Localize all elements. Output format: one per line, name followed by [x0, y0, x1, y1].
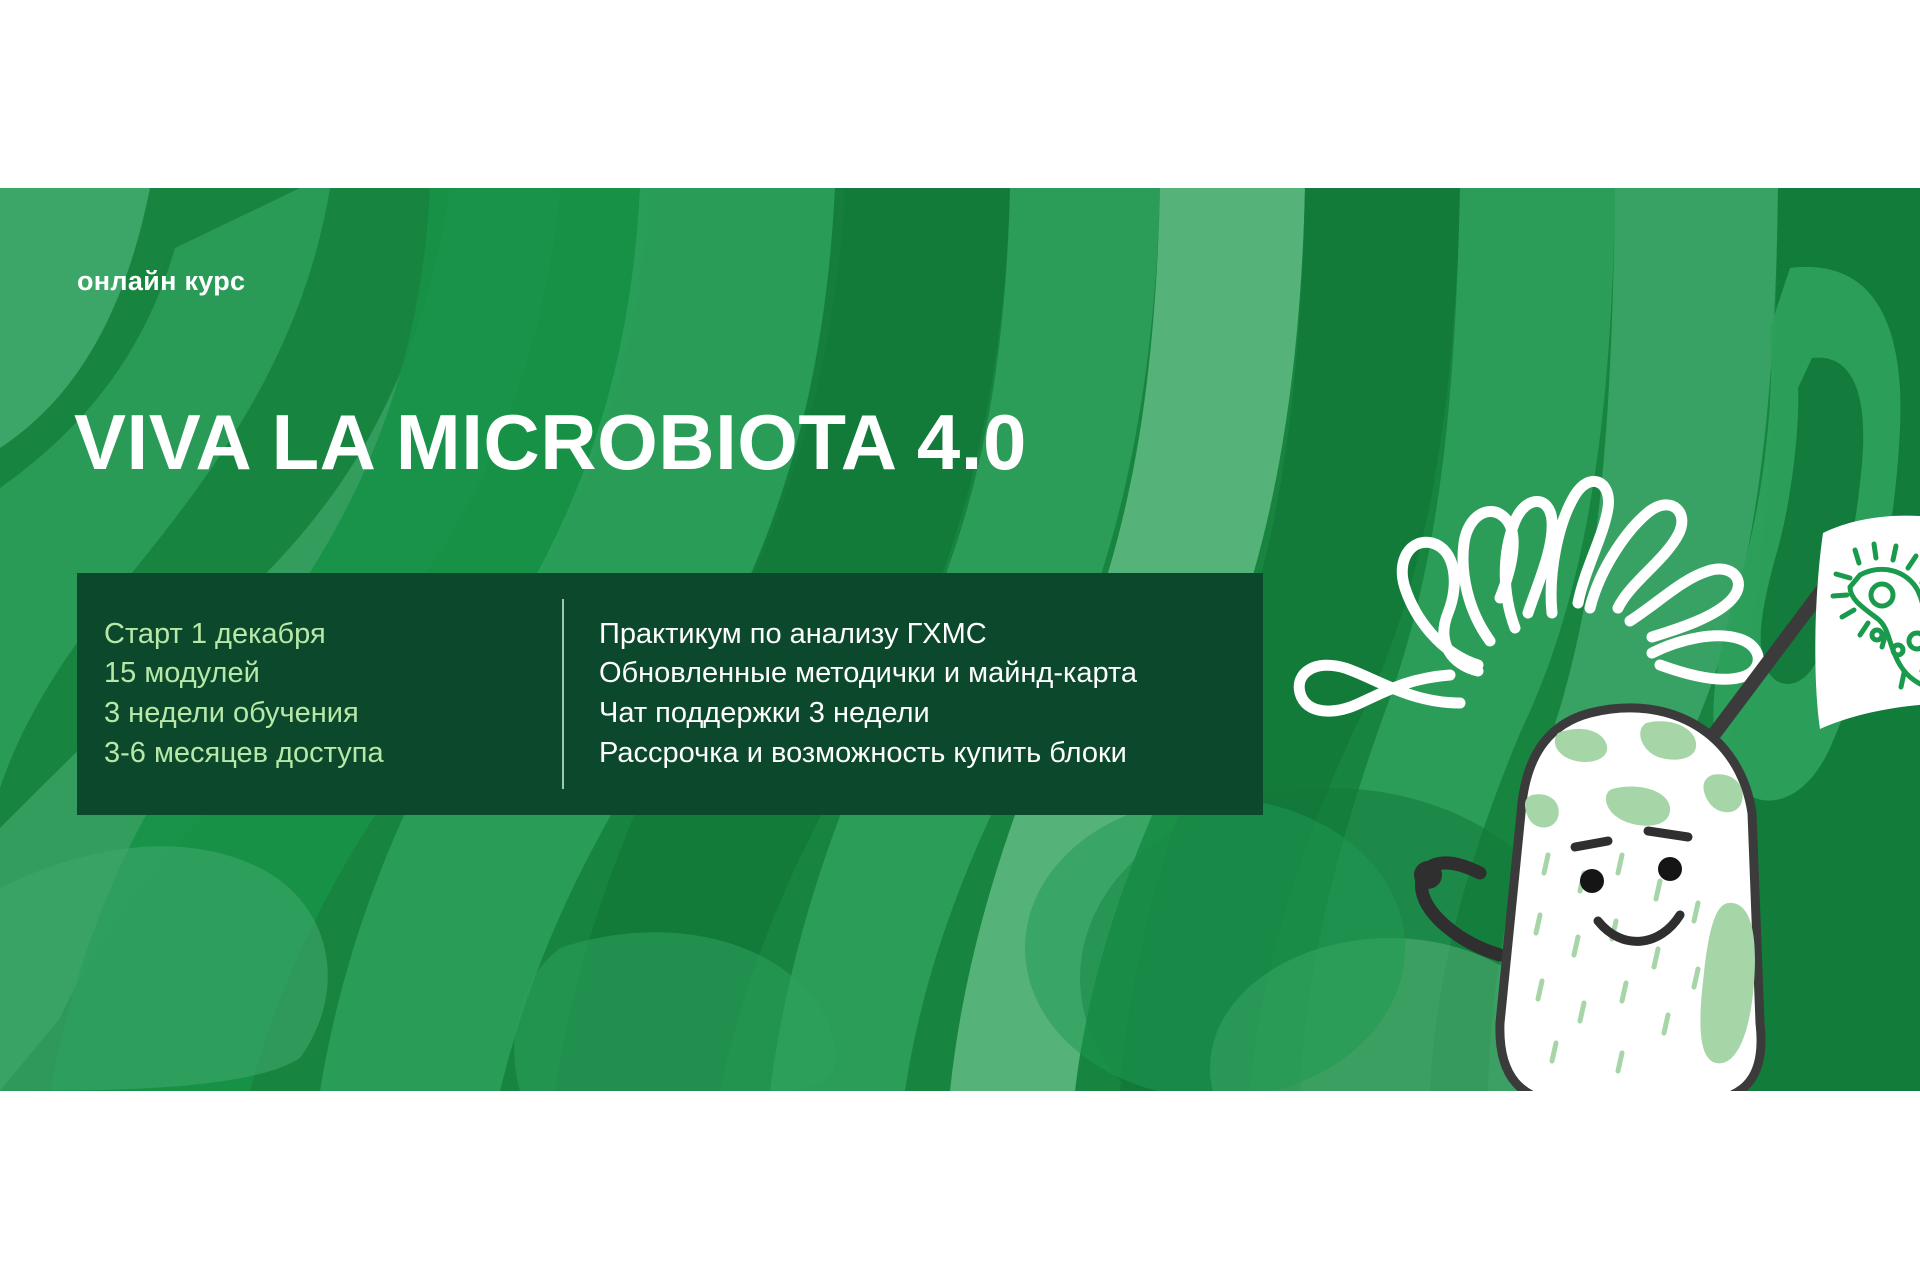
banner-text-layer: онлайн курс VIVA LA MICROBIOTA 4.0 Старт… — [0, 188, 1920, 1091]
info-item-support-chat: Чат поддержки 3 недели — [599, 694, 1263, 734]
info-column-left: Старт 1 декабря 15 модулей 3 недели обуч… — [77, 615, 562, 774]
course-banner: онлайн курс VIVA LA MICROBIOTA 4.0 Старт… — [0, 188, 1920, 1091]
course-info-box: Старт 1 декабря 15 модулей 3 недели обуч… — [77, 573, 1263, 815]
info-item-access: 3-6 месяцев доступа — [104, 734, 562, 774]
info-item-modules: 15 модулей — [104, 654, 562, 694]
page-root: онлайн курс VIVA LA MICROBIOTA 4.0 Старт… — [0, 0, 1920, 1280]
info-item-installment: Рассрочка и возможность купить блоки — [599, 734, 1263, 774]
info-column-right: Практикум по анализу ГХМС Обновленные ме… — [564, 615, 1263, 774]
info-item-start-date: Старт 1 декабря — [104, 615, 562, 655]
info-item-practicum: Практикум по анализу ГХМС — [599, 615, 1263, 655]
info-item-materials: Обновленные методички и майнд-карта — [599, 654, 1263, 694]
info-item-duration: 3 недели обучения — [104, 694, 562, 734]
page-title: VIVA LA MICROBIOTA 4.0 — [74, 403, 1027, 481]
course-eyebrow-label: онлайн курс — [77, 266, 245, 297]
